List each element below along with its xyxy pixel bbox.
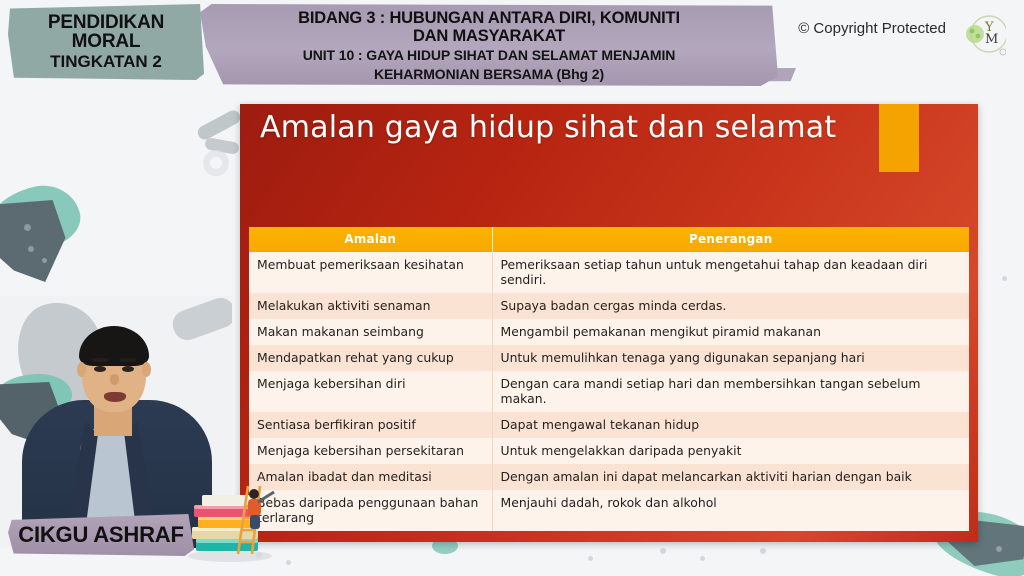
cell-penerangan: Dengan amalan ini dapat melancarkan akti… <box>492 464 969 490</box>
cell-amalan: Amalan ibadat dan meditasi <box>249 464 492 490</box>
svg-text:M: M <box>985 32 998 47</box>
brand-line-3: TINGKATAN 2 <box>50 51 162 72</box>
table-row: Menjaga kebersihan diriDengan cara mandi… <box>249 371 969 412</box>
presenter-eye-left <box>94 366 106 372</box>
cell-amalan: Sentiasa berfikiran positif <box>249 412 492 438</box>
cell-penerangan: Untuk mengelakkan daripada penyakit <box>492 438 969 464</box>
slide-title: Amalan gaya hidup sihat dan selamat <box>260 110 836 145</box>
topic-line-2: DAN MASYARAKAT <box>413 27 565 45</box>
cell-penerangan: Dengan cara mandi setiap hari dan member… <box>492 371 969 412</box>
decorative-teal-blob-left <box>0 179 85 260</box>
column-header-amalan: Amalan <box>249 227 492 252</box>
presenter-eyebrow-right <box>120 358 136 362</box>
decorative-slate-blob-left <box>0 200 82 282</box>
presenter-eye-right <box>122 366 134 372</box>
table-row: Melakukan aktiviti senamanSupaya badan c… <box>249 293 969 319</box>
table-row: Membuat pemeriksaan kesihatanPemeriksaan… <box>249 252 969 293</box>
cell-penerangan: Mengambil pemakanan mengikut piramid mak… <box>492 319 969 345</box>
topic-line-1: BIDANG 3 : HUBUNGAN ANTARA DIRI, KOMUNIT… <box>298 9 680 27</box>
decorative-dot-8 <box>760 548 766 554</box>
presenter-ear-right <box>142 362 151 377</box>
decorative-dot-3 <box>42 258 47 263</box>
decorative-dot-2 <box>28 246 34 252</box>
cell-penerangan: Dapat mengawal tekanan hidup <box>492 412 969 438</box>
decorative-dot-6 <box>660 548 666 554</box>
decorative-ring-1 <box>203 150 229 176</box>
topic-banner: BIDANG 3 : HUBUNGAN ANTARA DIRI, KOMUNIT… <box>200 4 778 86</box>
topic-line-4: KEHARMONIAN BERSAMA (Bhg 2) <box>374 66 604 83</box>
table-header-row: Amalan Penerangan <box>249 227 969 252</box>
cell-amalan: Melakukan aktiviti senaman <box>249 293 492 319</box>
presenter-ear-left <box>77 362 86 377</box>
slide-stage: PENDIDIKAN MORAL TINGKATAN 2 BIDANG 3 : … <box>0 0 1024 576</box>
table-row: Makan makanan seimbangMengambil pemakana… <box>249 319 969 345</box>
books-illustration-icon <box>182 482 278 562</box>
cell-amalan: Menjaga kebersihan persekitaran <box>249 438 492 464</box>
cell-penerangan: Pemeriksaan setiap tahun untuk mengetahu… <box>492 252 969 293</box>
cell-penerangan: Menjauhi dadah, rokok dan alkohol <box>492 490 969 531</box>
presenter-name: CIKGU ASHRAF <box>18 522 183 548</box>
presenter-eyebrow-left <box>92 358 108 362</box>
decorative-dot-1 <box>24 224 31 231</box>
table-row: Sentiasa berfikiran positifDapat mengawa… <box>249 412 969 438</box>
decorative-dot-7 <box>700 556 705 561</box>
cell-penerangan: Supaya badan cergas minda cerdas. <box>492 293 969 319</box>
decorative-slate-streak-1 <box>195 108 242 142</box>
presenter-mouth <box>104 392 126 402</box>
cell-amalan: Menjaga kebersihan diri <box>249 371 492 412</box>
cell-amalan: Bebas daripada penggunaan bahan terlaran… <box>249 490 492 531</box>
decorative-dot-10 <box>996 546 1002 552</box>
presenter-nameplate: CIKGU ASHRAF <box>8 514 194 556</box>
copyright-notice: © Copyright Protected <box>798 20 946 37</box>
cell-amalan: Membuat pemeriksaan kesihatan <box>249 252 492 293</box>
slide-canvas: Amalan gaya hidup sihat dan selamat Amal… <box>240 104 978 542</box>
cell-penerangan: Untuk memulihkan tenaga yang digunakan s… <box>492 345 969 371</box>
table-row: Mendapatkan rehat yang cukupUntuk memuli… <box>249 345 969 371</box>
cell-amalan: Mendapatkan rehat yang cukup <box>249 345 492 371</box>
decorative-dot-9 <box>588 556 593 561</box>
brand-line-2: MORAL <box>72 32 141 51</box>
title-accent-bar <box>879 104 919 172</box>
channel-logo-icon: Y M <box>958 14 1006 58</box>
cell-amalan: Makan makanan seimbang <box>249 319 492 345</box>
brand-banner: PENDIDIKAN MORAL TINGKATAN 2 <box>8 4 204 80</box>
column-header-penerangan: Penerangan <box>492 227 969 252</box>
table-row: Amalan ibadat dan meditasiDengan amalan … <box>249 464 969 490</box>
topic-line-3: UNIT 10 : GAYA HIDUP SIHAT DAN SELAMAT M… <box>303 47 676 64</box>
table-row: Menjaga kebersihan persekitaranUntuk men… <box>249 438 969 464</box>
practices-table: Amalan Penerangan Membuat pemeriksaan ke… <box>249 227 969 531</box>
brand-line-1: PENDIDIKAN <box>48 13 164 32</box>
decorative-dot-5 <box>286 560 291 565</box>
table-body: Membuat pemeriksaan kesihatanPemeriksaan… <box>249 252 969 531</box>
table-row: Bebas daripada penggunaan bahan terlaran… <box>249 490 969 531</box>
decorative-dot-11 <box>1002 276 1007 281</box>
presenter-nose <box>110 374 119 385</box>
